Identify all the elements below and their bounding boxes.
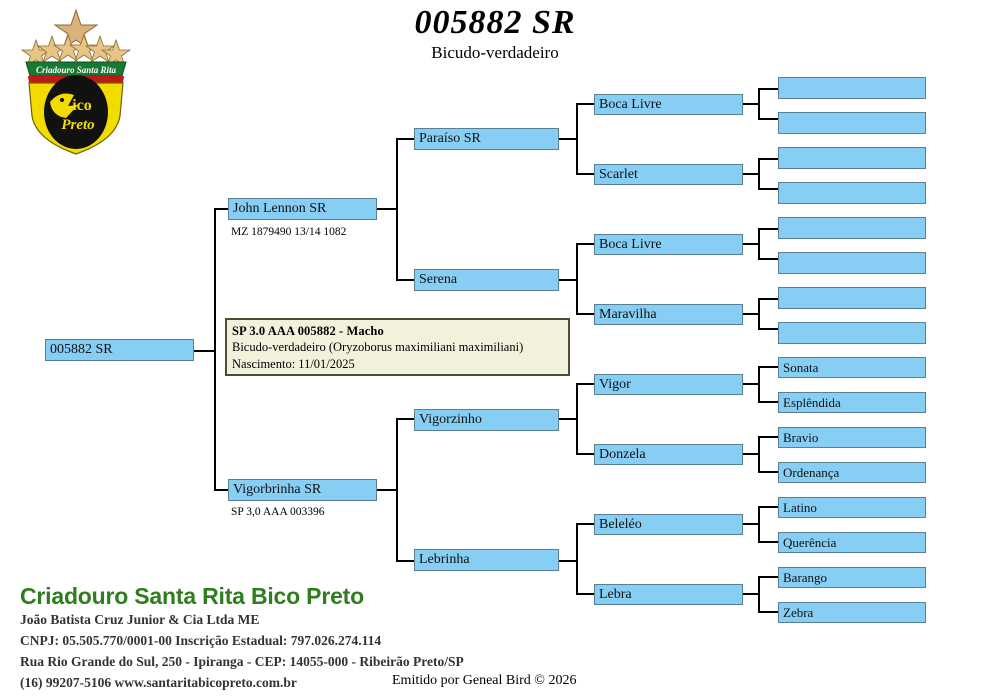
pedigree-node-gen5-1[interactable] — [778, 77, 926, 99]
connector — [396, 138, 414, 140]
connector — [758, 258, 778, 260]
footer-company: João Batista Cruz Junior & Cia Ltda ME — [20, 612, 259, 628]
connector — [396, 418, 414, 420]
pedigree-node-gen5-5[interactable] — [778, 217, 926, 239]
pedigree-node-gen5-13[interactable]: Latino — [778, 497, 926, 518]
connector — [376, 489, 398, 491]
pedigree-node-gen4-8[interactable]: Lebra — [594, 584, 743, 605]
connector — [396, 208, 398, 280]
connector — [758, 453, 760, 472]
connector — [758, 298, 778, 300]
connector — [758, 158, 778, 160]
pedigree-node-gen5-7[interactable] — [778, 287, 926, 309]
connector — [396, 419, 398, 490]
pedigree-node-gen5-3[interactable] — [778, 147, 926, 169]
connector — [758, 611, 778, 613]
connector — [576, 384, 578, 420]
connector — [558, 138, 578, 140]
subject-registration: SP 3.0 AAA 005882 - Macho — [232, 323, 563, 339]
connector — [758, 593, 760, 612]
subject-info-box: SP 3.0 AAA 005882 - Macho Bicudo-verdade… — [225, 318, 570, 376]
connector — [758, 188, 778, 190]
pedigree-node-gen5-2[interactable] — [778, 112, 926, 134]
connector — [396, 560, 414, 562]
pedigree-node-gen3-2[interactable]: Serena — [414, 269, 559, 291]
connector — [576, 593, 594, 595]
pedigree-node-gen5-12[interactable]: Ordenança — [778, 462, 926, 483]
connector — [576, 523, 594, 525]
pedigree-node-gen5-16[interactable]: Zebra — [778, 602, 926, 623]
subject-birthdate: Nascimento: 11/01/2025 — [232, 356, 563, 372]
pedigree-node-dam[interactable]: Vigorbrinha SR — [228, 479, 377, 501]
pedigree-node-gen4-7[interactable]: Beleléo — [594, 514, 743, 535]
connector — [576, 243, 594, 245]
connector — [758, 383, 760, 402]
connector — [758, 471, 778, 473]
subject-species: Bicudo-verdadeiro (Oryzoborus maximilian… — [232, 339, 563, 356]
connector — [376, 208, 398, 210]
pedigree-node-gen5-9[interactable]: Sonata — [778, 357, 926, 378]
svg-text:Preto: Preto — [61, 117, 94, 133]
connector — [576, 173, 594, 175]
connector — [576, 104, 578, 140]
connector — [194, 350, 216, 352]
footer-generator-credit: Emitido por Geneal Bird © 2026 — [392, 673, 576, 689]
connector — [558, 279, 578, 281]
connector — [758, 436, 778, 438]
connector — [396, 279, 414, 281]
pedigree-node-gen4-5[interactable]: Vigor — [594, 374, 743, 395]
connector — [758, 328, 778, 330]
connector — [758, 118, 778, 120]
connector — [576, 279, 578, 315]
svg-text:Criadouro Santa Rita: Criadouro Santa Rita — [36, 65, 117, 75]
connector — [758, 366, 778, 368]
connector — [576, 560, 578, 594]
connector — [758, 523, 760, 542]
connector — [758, 506, 778, 508]
connector — [758, 401, 778, 403]
connector — [576, 418, 578, 454]
connector — [576, 313, 594, 315]
connector — [576, 524, 578, 561]
connector — [214, 489, 228, 491]
connector — [576, 138, 578, 174]
pedigree-node-gen4-3[interactable]: Boca Livre — [594, 234, 743, 255]
footer-cnpj: CNPJ: 05.505.770/0001-00 Inscrição Estad… — [20, 633, 381, 649]
pedigree-node-gen5-8[interactable] — [778, 322, 926, 344]
svg-text:ico: ico — [72, 97, 92, 114]
connector — [576, 453, 594, 455]
footer-address: Rua Rio Grande do Sul, 250 - Ipiranga - … — [20, 654, 464, 670]
pedigree-node-gen5-10[interactable]: Esplêndida — [778, 392, 926, 413]
pedigree-node-gen5-6[interactable] — [778, 252, 926, 274]
pedigree-node-gen3-4[interactable]: Lebrinha — [414, 549, 559, 571]
page-subtitle: Bicudo-verdadeiro — [0, 43, 990, 63]
pedigree-node-gen5-15[interactable]: Barango — [778, 567, 926, 588]
pedigree-page: Criadouro Santa Rita ico Preto 005882 SR… — [0, 0, 990, 700]
pedigree-node-gen3-3[interactable]: Vigorzinho — [414, 409, 559, 431]
connector — [758, 88, 778, 90]
pedigree-node-gen4-2[interactable]: Scarlet — [594, 164, 743, 185]
pedigree-node-gen4-1[interactable]: Boca Livre — [594, 94, 743, 115]
pedigree-node-gen3-1[interactable]: Paraíso SR — [414, 128, 559, 150]
connector — [758, 576, 778, 578]
connector — [576, 244, 578, 280]
pedigree-ring-sire: MZ 1879490 13/14 1082 — [231, 226, 346, 238]
connector — [214, 208, 228, 210]
footer-contact: (16) 99207-5106 www.santaritabicopreto.c… — [20, 675, 297, 691]
connector — [758, 541, 778, 543]
connector — [214, 350, 216, 490]
pedigree-node-gen4-6[interactable]: Donzela — [594, 444, 743, 465]
connector — [758, 228, 778, 230]
page-title: 005882 SR — [0, 4, 990, 42]
connector — [214, 209, 216, 352]
pedigree-node-root[interactable]: 005882 SR — [45, 339, 194, 361]
connector — [558, 560, 578, 562]
connector — [396, 489, 398, 561]
connector — [558, 418, 578, 420]
pedigree-node-gen5-4[interactable] — [778, 182, 926, 204]
footer-brand: Criadouro Santa Rita Bico Preto — [20, 583, 364, 610]
pedigree-node-gen5-11[interactable]: Bravio — [778, 427, 926, 448]
connector — [576, 383, 594, 385]
pedigree-node-sire[interactable]: John Lennon SR — [228, 198, 377, 220]
pedigree-node-gen5-14[interactable]: Querência — [778, 532, 926, 553]
pedigree-ring-dam: SP 3,0 AAA 003396 — [231, 506, 325, 518]
connector — [396, 139, 398, 210]
connector — [576, 103, 594, 105]
pedigree-node-gen4-4[interactable]: Maravilha — [594, 304, 743, 325]
